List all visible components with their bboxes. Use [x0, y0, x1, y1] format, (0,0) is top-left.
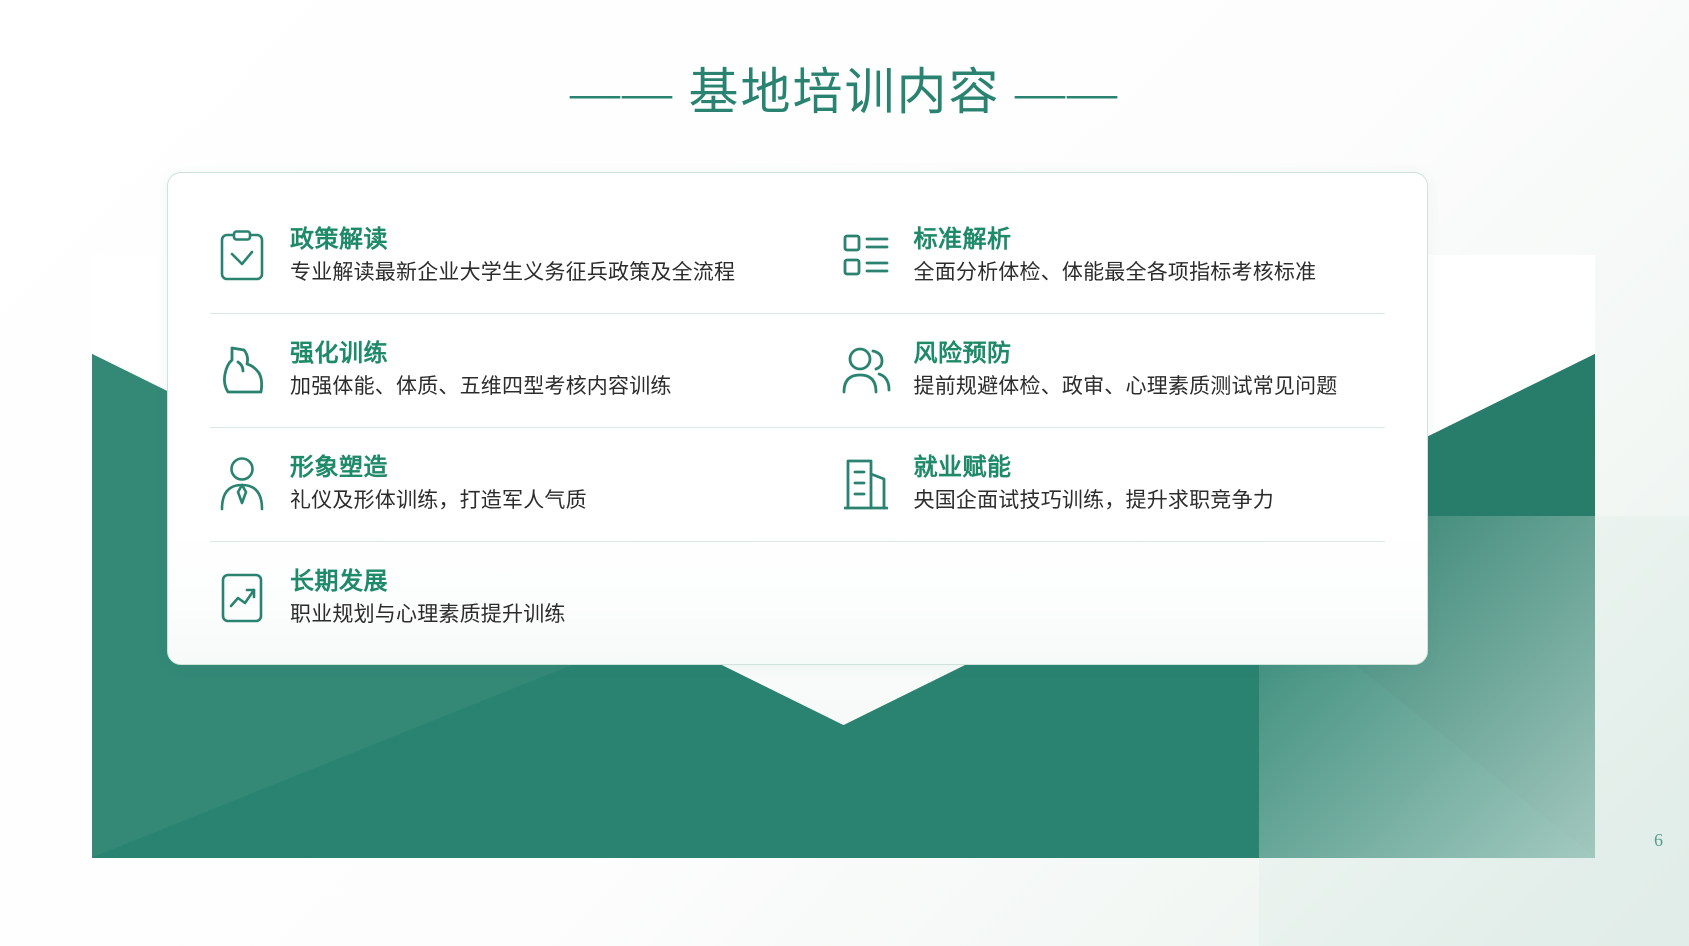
- training-item-text: 长期发展 职业规划与心理素质提升训练: [290, 567, 566, 628]
- training-item-image-building[interactable]: 形象塑造 礼仪及形体训练，打造军人气质: [210, 427, 798, 541]
- training-item-desc: 专业解读最新企业大学生义务征兵政策及全流程: [290, 259, 735, 286]
- content-row: 形象塑造 礼仪及形体训练，打造军人气质 就业赋能 央国企面试技巧训练，提升求职竞…: [210, 427, 1385, 541]
- clipboard-check-icon: [214, 228, 270, 284]
- training-item-policy[interactable]: 政策解读 专业解读最新企业大学生义务征兵政策及全流程: [210, 199, 798, 313]
- content-row: 长期发展 职业规划与心理素质提升训练: [210, 541, 1385, 655]
- muscle-arm-icon: [214, 342, 270, 398]
- training-item-text: 形象塑造 礼仪及形体训练，打造军人气质: [290, 453, 587, 514]
- training-item-title: 就业赋能: [914, 453, 1274, 483]
- list-squares-icon: [838, 228, 894, 284]
- training-item-title: 风险预防: [914, 339, 1338, 369]
- training-item-desc: 加强体能、体质、五维四型考核内容训练: [290, 373, 672, 400]
- content-row: 政策解读 专业解读最新企业大学生义务征兵政策及全流程 标准解析 全面分析体检、体…: [210, 199, 1385, 313]
- training-item-desc: 职业规划与心理素质提升训练: [290, 601, 566, 628]
- training-item-desc: 央国企面试技巧训练，提升求职竞争力: [914, 487, 1274, 514]
- content-row: 强化训练 加强体能、体质、五维四型考核内容训练 风险预防 提前规避体检、政审、心…: [210, 313, 1385, 427]
- trend-chart-icon: [214, 570, 270, 626]
- training-item-text: 就业赋能 央国企面试技巧训练，提升求职竞争力: [914, 453, 1274, 514]
- users-group-icon: [838, 342, 894, 398]
- training-item-title: 政策解读: [290, 225, 735, 255]
- training-content-card: 政策解读 专业解读最新企业大学生义务征兵政策及全流程 标准解析 全面分析体检、体…: [167, 172, 1428, 665]
- training-item-employment[interactable]: 就业赋能 央国企面试技巧训练，提升求职竞争力: [798, 427, 1386, 541]
- training-item-text: 风险预防 提前规避体检、政审、心理素质测试常见问题: [914, 339, 1338, 400]
- training-item-desc: 全面分析体检、体能最全各项指标考核标准: [914, 259, 1317, 286]
- training-item-text: 标准解析 全面分析体检、体能最全各项指标考核标准: [914, 225, 1317, 286]
- training-item-title: 强化训练: [290, 339, 672, 369]
- training-item-title: 形象塑造: [290, 453, 587, 483]
- training-item-risk-prevention[interactable]: 风险预防 提前规避体检、政审、心理素质测试常见问题: [798, 313, 1386, 427]
- page-number: 6: [1654, 830, 1663, 851]
- training-item-text: 政策解读 专业解读最新企业大学生义务征兵政策及全流程: [290, 225, 735, 286]
- training-item-desc: 提前规避体检、政审、心理素质测试常见问题: [914, 373, 1338, 400]
- training-item-title: 长期发展: [290, 567, 566, 597]
- training-item-standard[interactable]: 标准解析 全面分析体检、体能最全各项指标考核标准: [798, 199, 1386, 313]
- training-item-long-term-development[interactable]: 长期发展 职业规划与心理素质提升训练: [210, 541, 798, 655]
- training-item-intensive-training[interactable]: 强化训练 加强体能、体质、五维四型考核内容训练: [210, 313, 798, 427]
- training-item-title: 标准解析: [914, 225, 1317, 255]
- office-building-icon: [838, 456, 894, 512]
- page-title: —— 基地培训内容 ——: [0, 52, 1689, 124]
- training-item-desc: 礼仪及形体训练，打造军人气质: [290, 487, 587, 514]
- training-item-text: 强化训练 加强体能、体质、五维四型考核内容训练: [290, 339, 672, 400]
- person-tie-icon: [214, 456, 270, 512]
